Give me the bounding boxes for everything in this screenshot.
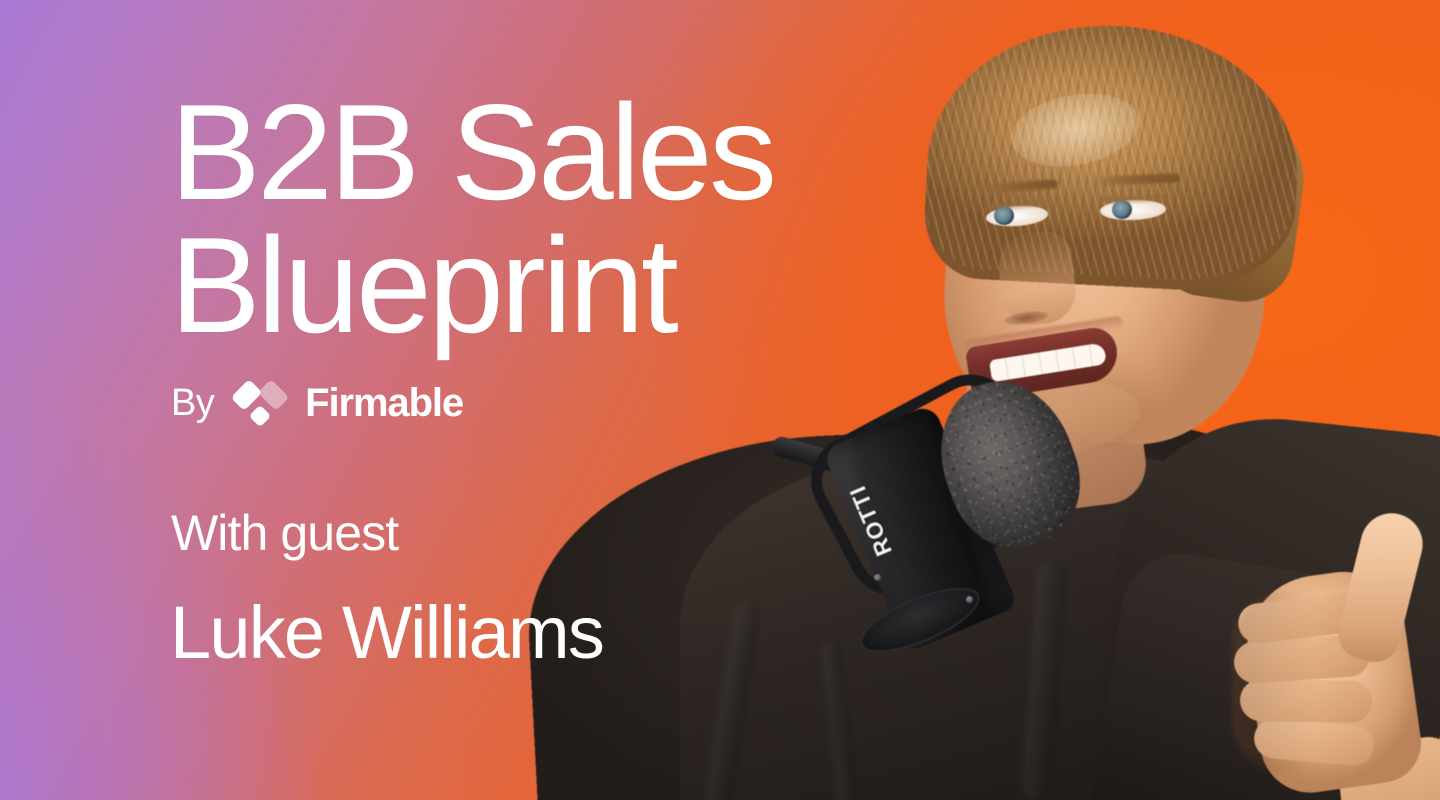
microphone-screw (966, 596, 973, 603)
firmable-wordmark: Firmable (305, 383, 463, 423)
firmable-diamond-icon (231, 374, 289, 432)
title-block: B2B Sales Blueprint By (170, 0, 930, 800)
page-title: B2B Sales Blueprint (170, 86, 774, 353)
guest-name: Luke Williams (170, 596, 603, 670)
guest-label: With guest (171, 508, 398, 558)
guest-hand (1232, 512, 1440, 800)
byline: By Firmable (171, 374, 463, 432)
firmable-logo: Firmable (231, 374, 463, 432)
byline-prefix: By (171, 384, 214, 422)
thumbnail-canvas: ROTTI B2B Sales Blueprint By (0, 0, 1440, 800)
